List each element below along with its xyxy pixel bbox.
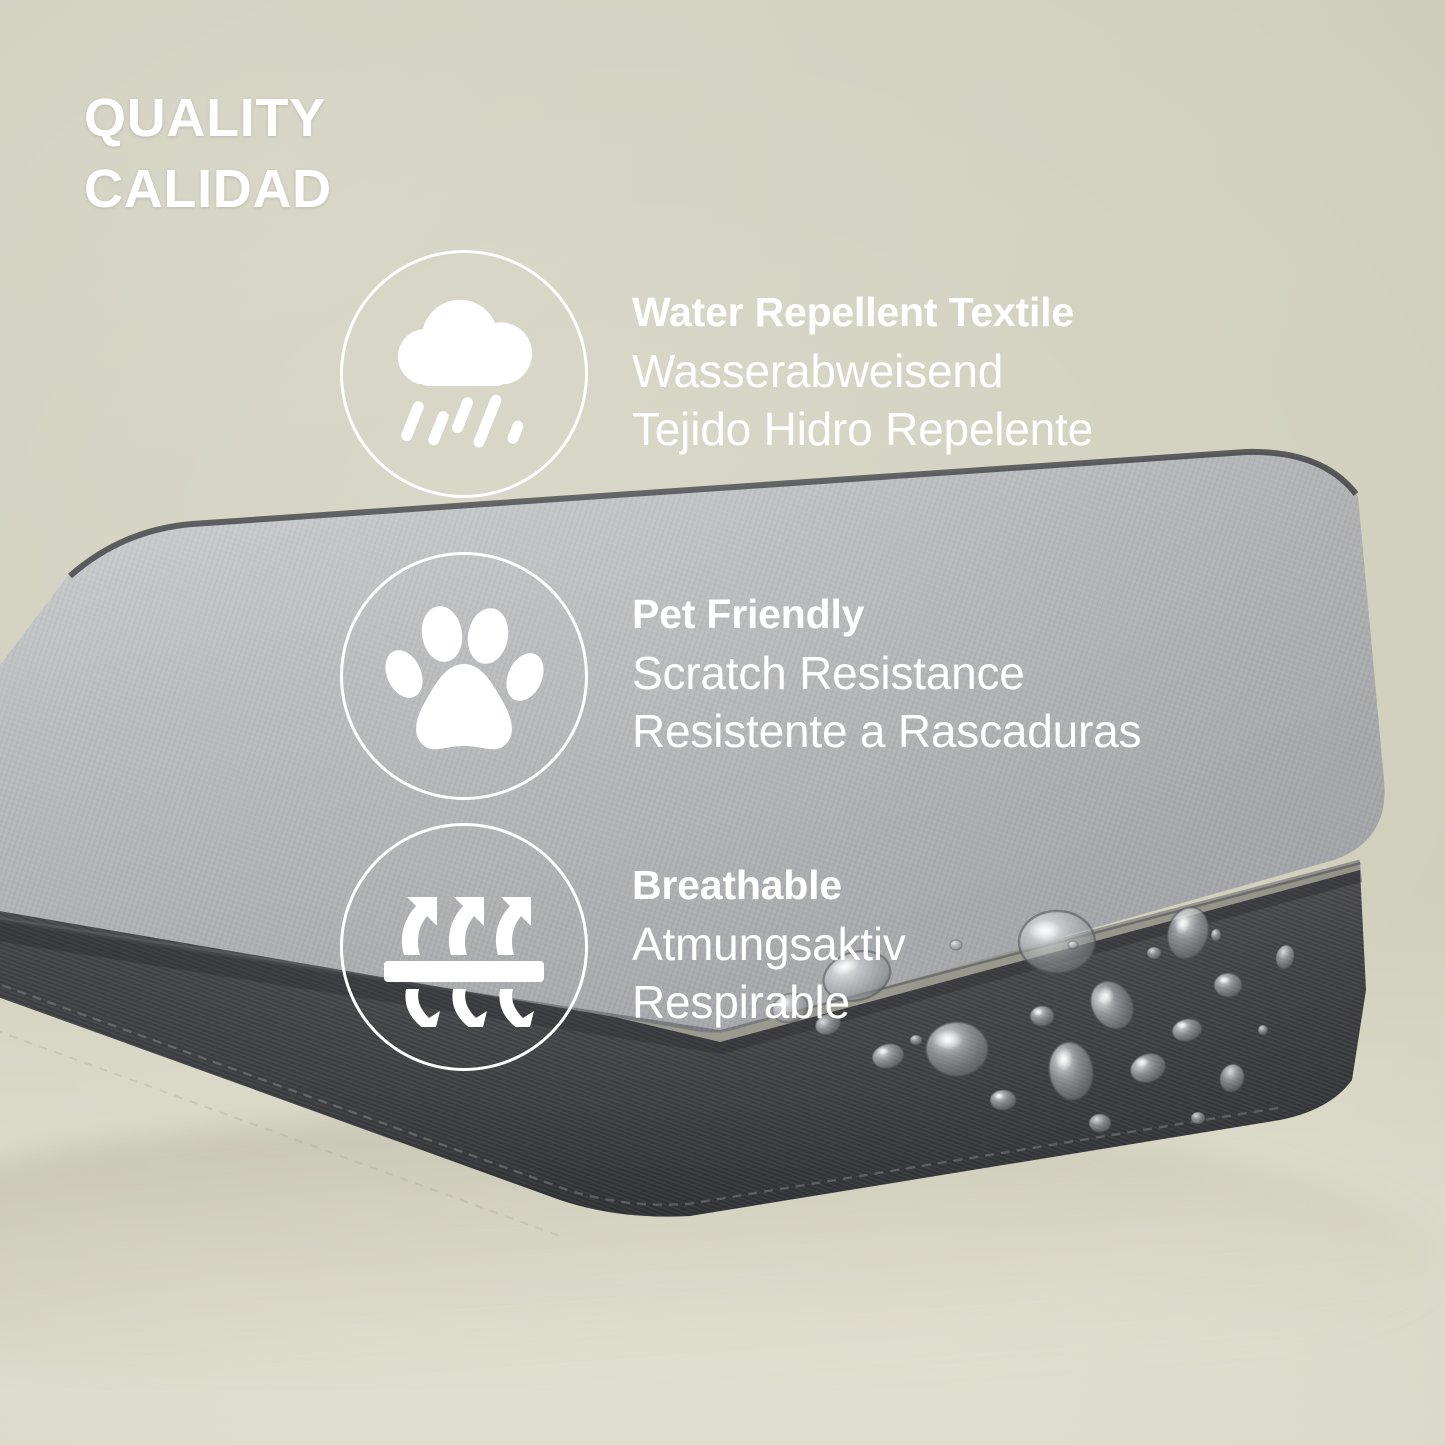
infographic-canvas: QUALITY CALIDAD Wat — [0, 0, 1445, 1445]
feature-line-de: Wasserabweisend — [632, 342, 1093, 400]
paw-print-icon — [340, 552, 588, 800]
feature-text-breathable: Breathable Atmungsaktiv Respirable — [632, 862, 906, 1031]
feature-text-water-repellent: Water Repellent Textile Wasserabweisend … — [632, 289, 1093, 458]
feature-item-pet-friendly: Pet Friendly Scratch Resistance Resisten… — [340, 552, 1141, 800]
feature-line-de: Atmungsaktiv — [632, 915, 906, 973]
feature-line-en: Scratch Resistance — [632, 644, 1141, 702]
feature-item-breathable: Breathable Atmungsaktiv Respirable — [340, 823, 906, 1071]
feature-title: Pet Friendly — [632, 591, 1141, 639]
feature-item-water-repellent: Water Repellent Textile Wasserabweisend … — [340, 250, 1093, 498]
breathable-airflow-icon — [340, 823, 588, 1071]
feature-title: Water Repellent Textile — [632, 289, 1093, 337]
title-line-spanish: CALIDAD — [84, 154, 332, 225]
feature-title: Breathable — [632, 862, 906, 910]
feature-text-pet-friendly: Pet Friendly Scratch Resistance Resisten… — [632, 591, 1141, 760]
rain-cloud-icon — [340, 250, 588, 498]
page-title: QUALITY CALIDAD — [84, 83, 332, 226]
feature-line-es: Tejido Hidro Repelente — [632, 400, 1093, 458]
feature-line-es: Respirable — [632, 973, 906, 1031]
feature-line-es: Resistente a Rascaduras — [632, 702, 1141, 760]
title-line-english: QUALITY — [84, 83, 332, 154]
